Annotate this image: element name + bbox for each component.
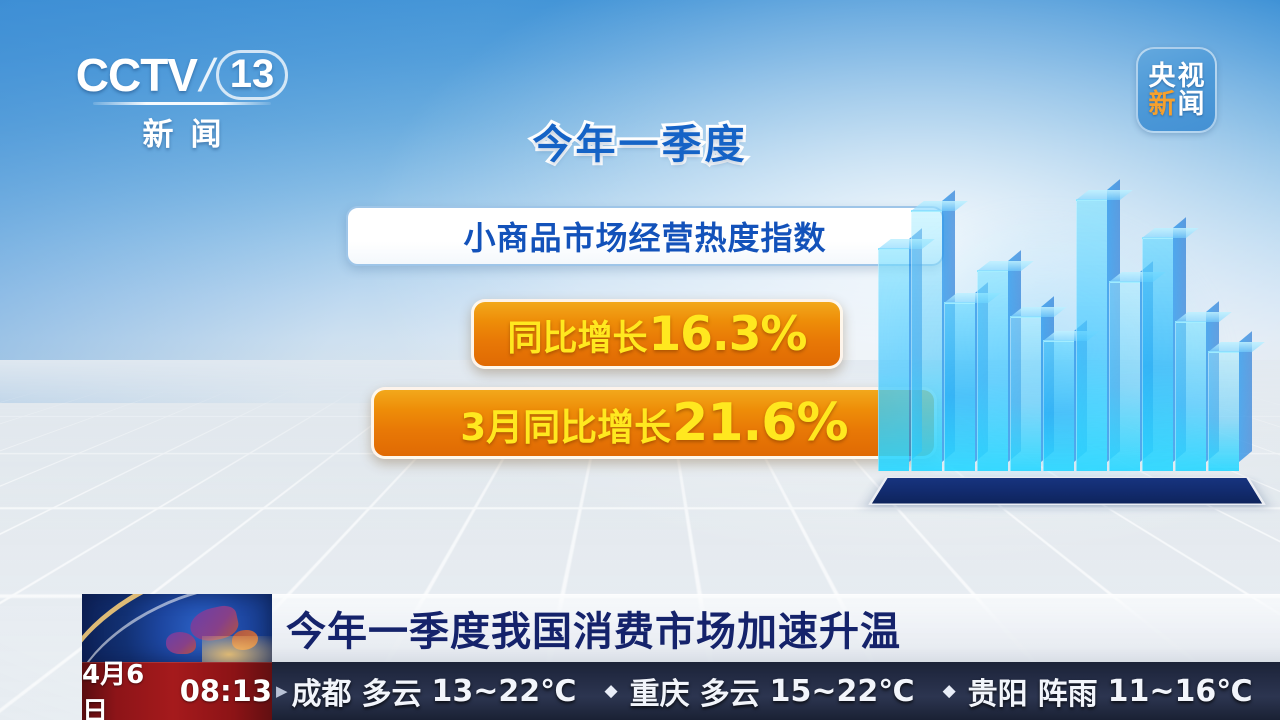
chart-bar bbox=[1175, 321, 1206, 471]
chart-bar-front-face bbox=[1076, 199, 1107, 471]
chart-bar-top-face bbox=[1076, 190, 1133, 200]
chart-bar-front-face bbox=[977, 270, 1008, 471]
broadcast-screen: CCTV / 13 新闻 央 视 新 闻 今年一季度 小商品市场经营热度指数 同… bbox=[0, 0, 1280, 720]
chart-bar bbox=[878, 248, 909, 471]
chart-bar-front-face bbox=[1175, 321, 1206, 471]
cctv-channel-number: 13 bbox=[216, 50, 289, 100]
chart-bar bbox=[1142, 237, 1173, 471]
lower-third-globe-graphic bbox=[82, 594, 272, 662]
chart-bar-front-face bbox=[944, 302, 975, 471]
chart-bar bbox=[1076, 199, 1107, 471]
stat-1-label: 同比增长 bbox=[507, 310, 647, 361]
cctv-logo-row: CCTV / 13 bbox=[82, 50, 282, 100]
cctv-logo-underline bbox=[93, 102, 271, 105]
weather-city: 成都 bbox=[292, 669, 352, 713]
ticker-arrow-icon: ▶ bbox=[276, 682, 288, 700]
broadcast-time: 08:13 bbox=[180, 674, 272, 708]
chart-bar-front-face bbox=[1208, 351, 1239, 471]
chart-bar bbox=[1043, 340, 1074, 471]
weather-temperature: 13~22℃ bbox=[432, 674, 577, 709]
ticker-separator-icon: ◆ bbox=[605, 681, 618, 701]
weather-ticker-item: 成都多云13~22℃ bbox=[292, 669, 577, 713]
cctv-wordmark: CCTV bbox=[76, 52, 197, 98]
weather-condition: 多云 bbox=[700, 669, 760, 713]
weather-ticker-item: 重庆多云15~22℃ bbox=[630, 669, 915, 713]
weather-condition: 阵雨 bbox=[1038, 669, 1098, 713]
chart-bar-front-face bbox=[1010, 316, 1041, 471]
stat-2-value: 21.6% bbox=[672, 393, 847, 453]
index-name-pill: 小商品市场经营热度指数 bbox=[346, 206, 944, 266]
stat-2-label: 3月同比增长 bbox=[460, 397, 671, 451]
app-badge-line-1: 央 视 bbox=[1149, 63, 1205, 90]
weather-condition: 多云 bbox=[362, 669, 422, 713]
decorative-3d-bar-chart bbox=[860, 165, 1270, 515]
chart-bar bbox=[1109, 281, 1140, 471]
stat-badge-yoy-growth: 同比增长 16.3% bbox=[471, 299, 843, 369]
chart-bar-front-face bbox=[911, 210, 942, 471]
weather-temperature: 11~16℃ bbox=[1108, 674, 1253, 709]
chart-bar bbox=[1208, 351, 1239, 471]
stat-badge-2-text: 3月同比增长 21.6% bbox=[460, 393, 847, 453]
lower-third-headline-bar: 今年一季度我国消费市场加速升温 bbox=[272, 594, 1280, 662]
chart-bar bbox=[944, 302, 975, 471]
chart-bar-front-face bbox=[878, 248, 909, 471]
graphic-kicker: 今年一季度 bbox=[0, 112, 1280, 170]
chart-bar-front-face bbox=[1142, 237, 1173, 471]
weather-ticker[interactable]: ▶ 成都多云13~22℃◆重庆多云15~22℃◆贵阳阵雨11~16℃ bbox=[272, 662, 1280, 720]
stat-badge-march-yoy-growth: 3月同比增长 21.6% bbox=[371, 387, 937, 459]
stat-1-value: 16.3% bbox=[648, 307, 806, 362]
chart-bar bbox=[977, 270, 1008, 471]
chart-bar-front-face bbox=[1109, 281, 1140, 471]
ticker-separator-icon: ◆ bbox=[943, 681, 956, 701]
datetime-box: 4月6日 08:13 bbox=[82, 662, 272, 720]
app-badge-char-shi: 视 bbox=[1178, 63, 1205, 90]
broadcast-date: 4月6日 bbox=[82, 654, 166, 720]
weather-city: 重庆 bbox=[630, 669, 690, 713]
chart-bar bbox=[1010, 316, 1041, 471]
index-name-label: 小商品市场经营热度指数 bbox=[463, 213, 826, 259]
app-badge-char-yang: 央 bbox=[1149, 63, 1176, 90]
weather-city: 贵阳 bbox=[968, 669, 1028, 713]
chart-base-platform bbox=[868, 477, 1266, 505]
weather-ticker-item: 贵阳阵雨11~16℃ bbox=[968, 669, 1253, 713]
weather-temperature: 15~22℃ bbox=[770, 674, 915, 709]
chart-bar-front-face bbox=[1043, 340, 1074, 471]
chart-bar bbox=[911, 210, 942, 471]
stat-badge-1-text: 同比增长 16.3% bbox=[507, 307, 806, 362]
weather-ticker-items: 成都多云13~22℃◆重庆多云15~22℃◆贵阳阵雨11~16℃ bbox=[292, 669, 1253, 713]
lower-third-headline: 今年一季度我国消费市场加速升温 bbox=[286, 599, 901, 657]
